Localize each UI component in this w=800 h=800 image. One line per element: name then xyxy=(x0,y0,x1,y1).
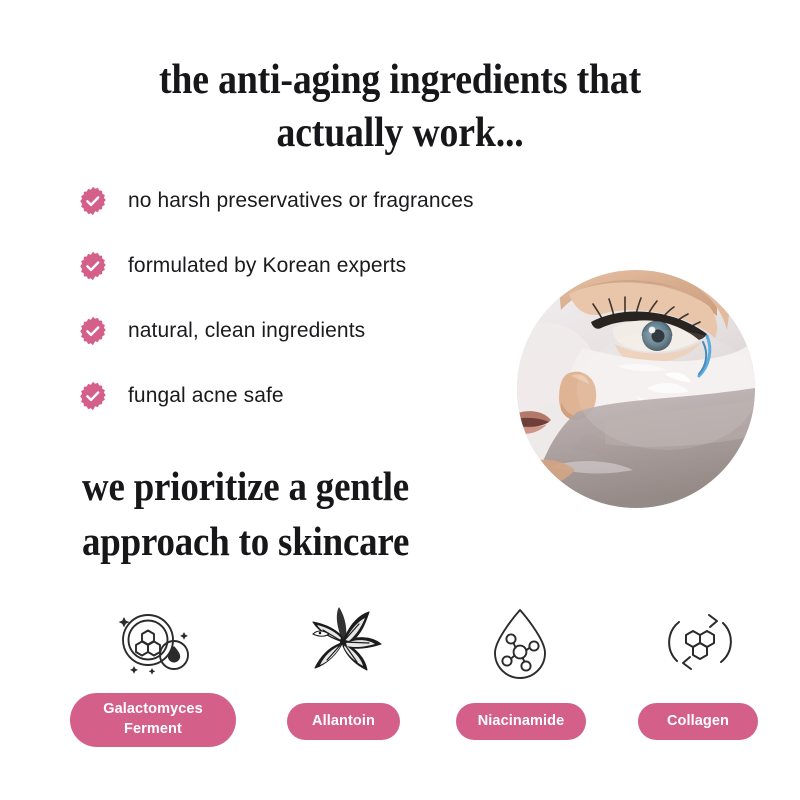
ingredient-pill-label: Allantoin xyxy=(312,712,375,732)
ingredient-pill-niacinamide[interactable]: Niacinamide xyxy=(456,703,586,740)
list-item: formulated by Korean experts xyxy=(78,247,598,285)
ingredient-pill-label: Niacinamide xyxy=(478,712,565,732)
list-item: no harsh preservatives or fragrances xyxy=(78,182,598,220)
headline-mid-line-2: approach to skincare xyxy=(82,514,550,569)
check-badge-icon xyxy=(78,251,108,281)
promo-graphic: the anti-aging ingredients that actually… xyxy=(0,0,800,800)
hexagon-renewal-arrows-icon xyxy=(645,604,755,680)
list-item: natural, clean ingredients xyxy=(78,312,598,350)
check-badge-icon xyxy=(78,186,108,216)
check-badge-icon xyxy=(78,316,108,346)
ingredient-pill-allantoin[interactable]: Allantoin xyxy=(287,703,400,740)
list-item-label: fungal acne safe xyxy=(128,384,284,408)
ingredient-pills-row: Galactomyces Ferment Allantoin Niacinami… xyxy=(0,690,800,770)
comfrey-flower-icon xyxy=(288,604,398,680)
ingredient-icons-row xyxy=(0,604,800,684)
list-item-label: natural, clean ingredients xyxy=(128,319,365,343)
secondary-title: we prioritize a gentle approach to skinc… xyxy=(82,459,550,568)
check-badge-icon xyxy=(78,381,108,411)
droplet-molecule-icon xyxy=(465,604,575,680)
list-item-label: no harsh preservatives or fragrances xyxy=(128,189,474,213)
headline-top-line-1: the anti-aging ingredients that xyxy=(94,54,706,107)
ingredient-pill-label: Galactomyces Ferment xyxy=(86,700,220,739)
list-item-label: formulated by Korean experts xyxy=(128,254,406,278)
ingredient-pill-galactomyces-ferment[interactable]: Galactomyces Ferment xyxy=(70,693,236,747)
ingredient-pill-label: Collagen xyxy=(667,712,729,732)
sheet-mask-photo xyxy=(517,270,755,508)
ingredient-pill-collagen[interactable]: Collagen xyxy=(638,703,758,740)
page-title: the anti-aging ingredients that actually… xyxy=(94,54,706,161)
hexagon-cells-droplet-sparkle-icon xyxy=(97,604,207,680)
headline-top-line-2: actually work... xyxy=(94,107,706,160)
headline-mid-line-1: we prioritize a gentle xyxy=(82,459,550,514)
